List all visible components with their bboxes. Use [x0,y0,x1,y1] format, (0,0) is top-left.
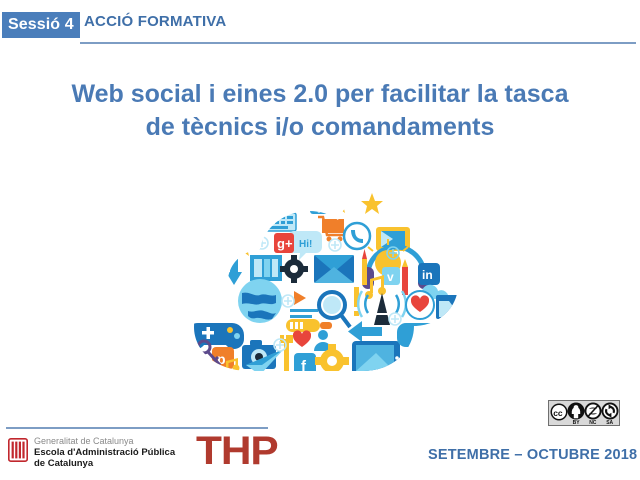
brush-icon [362,249,367,285]
presentation-slide: Sessió 4 ACCIÓ FORMATIVA Web social i ei… [0,0,640,480]
generalitat-shield-icon [8,438,28,462]
star-icon [231,235,253,256]
svg-text:Hi!: Hi! [299,239,312,250]
cc-circle-icon: cc [551,404,568,421]
header-divider [80,42,636,44]
plus-circle-icon [389,313,401,325]
svg-text:v: v [387,270,394,284]
globe-icon [238,279,282,323]
play-button-icon [290,291,318,318]
heart-icon [293,330,311,347]
share-node-icon [433,350,458,376]
gear-icon [280,255,308,283]
title-line-1: Web social i eines 2.0 per facilitar la … [30,78,610,111]
facebook-icon: f [294,353,316,375]
svg-text:cc: cc [553,408,563,418]
star-icon [327,192,349,213]
generalitat-line-3: de Catalunya [34,458,175,469]
svg-text:BY: BY [573,420,581,426]
clock-icon [275,185,301,211]
svg-text:p: p [217,351,226,367]
smartphone-icon [310,180,328,214]
svg-text:9: 9 [439,336,447,352]
battery-icon [286,319,332,332]
folder-icon [436,295,460,319]
generalitat-text: Generalitat de Catalunya Escola d'Admini… [34,436,175,469]
envelope-icon [314,255,354,283]
download-arrow-icon [226,259,242,285]
keyboard-icon [248,213,296,231]
header-title: ACCIÓ FORMATIVA [84,13,226,30]
generalitat-line-1: Generalitat de Catalunya [34,436,175,447]
svg-text:g+: g+ [277,236,293,251]
svg-text:in: in [422,268,433,282]
magnifier-icon [319,292,350,327]
generalitat-line-2: Escola d'Administració Pública [34,447,175,458]
slide-title: Web social i eines 2.0 per facilitar la … [30,78,610,144]
calendar-icon: 9 [432,323,458,355]
star-icon [361,193,383,214]
generalitat-logo: Generalitat de Catalunya Escola d'Admini… [8,436,175,469]
title-line-2: de tècnics i/o comandaments [30,111,610,144]
creative-commons-license-badge: cc BY NC [548,400,620,426]
social-media-cloud-illustration: Hi! g+ [190,175,460,375]
date-range-label: SETEMBRE – OCTUBRE 2018 [428,447,637,463]
monitor-icon [250,255,282,281]
pencil-icon [402,259,408,295]
svg-text:NC: NC [589,420,597,426]
gamepad-icon [190,323,244,349]
slide-header: Sessió 4 ACCIÓ FORMATIVA [0,0,640,50]
svg-text:SA: SA [606,420,613,426]
plus-circle-icon [282,295,294,307]
plus-circle-icon [329,239,341,251]
session-badge: Sessió 4 [2,12,80,38]
bar-chart-icon [406,351,443,375]
plus-circle-icon [256,237,268,249]
thp-logo: THP [196,430,278,472]
linkedin-icon: in [418,263,440,285]
tablet-icon [352,341,400,375]
heart-icon [406,291,434,319]
wifi-icon [234,211,247,233]
vimeo-icon: v [382,267,400,285]
google-plus-icon: g+ [274,233,294,253]
phone-icon [344,223,370,249]
chat-dots-icon [397,323,445,355]
wifi-icon [208,273,220,293]
